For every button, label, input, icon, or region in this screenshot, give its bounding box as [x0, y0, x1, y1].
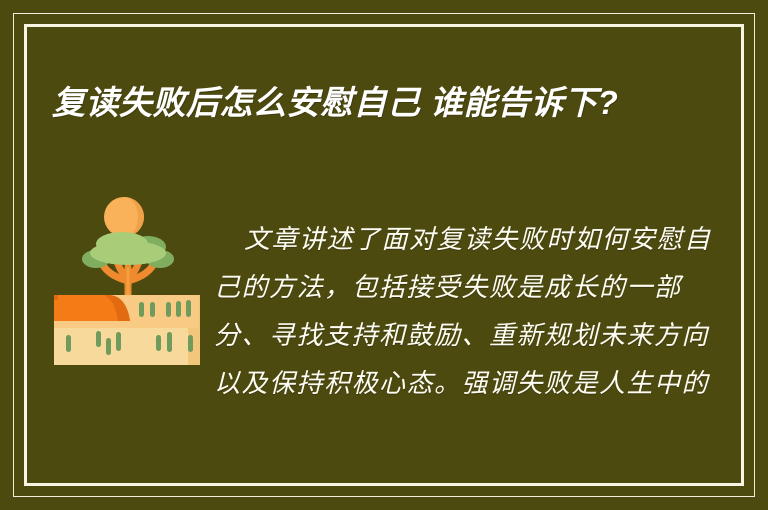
article-summary-text: 文章讲述了面对复读失败时如何安慰自己的方法，包括接受失败是成长的一部分、寻找支持…	[214, 216, 716, 408]
landscape-scene-illustration	[52, 195, 204, 367]
poster-card: 复读失败后怎么安慰自己 谁能告诉下?	[0, 0, 768, 510]
page-title: 复读失败后怎么安慰自己 谁能告诉下?	[52, 78, 692, 128]
content-area: 文章讲述了面对复读失败时如何安慰自己的方法，包括接受失败是成长的一部分、寻找支持…	[52, 190, 716, 480]
sun-icon	[104, 197, 144, 237]
tree-canopy-icon	[82, 232, 174, 268]
